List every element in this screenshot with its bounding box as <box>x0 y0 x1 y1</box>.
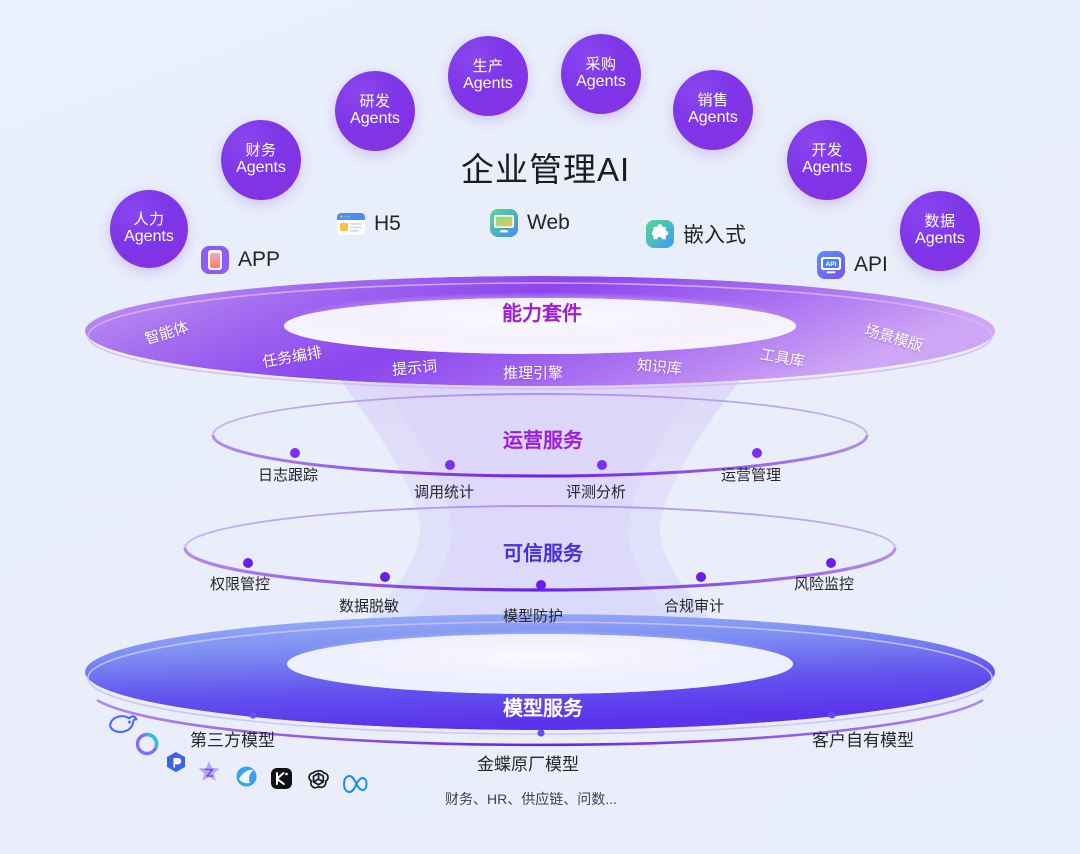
channel-APP[interactable]: APP <box>200 245 280 275</box>
agent-bubble-sub: Agents <box>350 110 400 128</box>
ring-dot-trust-0 <box>243 558 253 568</box>
agent-bubble-4[interactable]: 采购Agents <box>561 34 641 114</box>
layer-title-operations: 运营服务 <box>503 424 583 453</box>
svg-text:API: API <box>826 261 837 268</box>
agent-bubble-name: 销售 <box>697 93 728 110</box>
channel-label: Web <box>527 211 570 235</box>
layer-node-operations-3: 运营管理 <box>721 464 781 485</box>
channel-API[interactable]: APIAPI <box>816 250 888 280</box>
agent-bubble-sub: Agents <box>915 230 965 248</box>
agent-bubble-name: 生产 <box>472 59 503 76</box>
agent-bubble-sub: Agents <box>688 109 738 127</box>
agent-bubble-name: 采购 <box>585 57 616 74</box>
api-icon: API <box>816 250 846 280</box>
agent-bubble-name: 数据 <box>924 214 955 231</box>
agent-bubble-name: 财务 <box>245 143 276 160</box>
agent-bubble-6[interactable]: 开发Agents <box>787 120 867 200</box>
agent-bubble-name: 人力 <box>133 212 164 229</box>
embedded-icon <box>645 219 675 249</box>
agent-bubble-name: 开发 <box>811 143 842 160</box>
channel-label: API <box>854 253 888 277</box>
ring-dot-trust-4 <box>826 558 836 568</box>
agent-bubble-5[interactable]: 销售Agents <box>673 70 753 150</box>
ring-dot-operations-3 <box>752 448 762 458</box>
layer-node-operations-1: 调用统计 <box>414 481 474 502</box>
channel-label: 嵌入式 <box>683 219 746 249</box>
agent-bubble-1[interactable]: 财务Agents <box>221 120 301 200</box>
layer-title-trust: 可信服务 <box>503 537 583 566</box>
ring-dot-trust-2 <box>536 580 546 590</box>
channel-label: APP <box>238 248 280 272</box>
channel-嵌入式[interactable]: 嵌入式 <box>645 219 746 249</box>
layer-title-model: 模型服务 <box>503 692 583 721</box>
ring-dot-model-1 <box>537 729 544 736</box>
ring-dot-operations-1 <box>445 460 455 470</box>
agent-bubble-sub: Agents <box>463 75 513 93</box>
diagram-canvas: 人力Agents财务Agents研发Agents生产Agents采购Agents… <box>0 0 1080 854</box>
layer-node-trust-4: 风险监控 <box>794 573 854 594</box>
layer-node-trust-2: 模型防护 <box>503 605 563 626</box>
layer-node-trust-1: 数据脱敏 <box>339 595 399 616</box>
layer-node-operations-0: 日志跟踪 <box>258 464 318 485</box>
agent-bubble-3[interactable]: 生产Agents <box>448 36 528 116</box>
model-sub-caption: 财务、HR、供应链、问数... <box>445 789 617 809</box>
channel-Web[interactable]: Web <box>489 208 570 238</box>
agent-bubble-0[interactable]: 人力Agents <box>110 190 188 268</box>
h5-icon <box>336 209 366 239</box>
agent-bubble-7[interactable]: 数据Agents <box>900 191 980 271</box>
layer-node-model-0: 第三方模型 <box>190 726 275 751</box>
layer-title-capability: 能力套件 <box>502 297 582 326</box>
layer-node-trust-0: 权限管控 <box>210 573 270 594</box>
agent-bubble-2[interactable]: 研发Agents <box>335 71 415 151</box>
agent-bubble-sub: Agents <box>236 159 286 177</box>
layer-node-model-2: 客户自有模型 <box>812 726 914 751</box>
ring-dot-trust-1 <box>380 572 390 582</box>
page-title: 企业管理AI <box>461 143 630 191</box>
app-icon <box>200 245 230 275</box>
ring-dot-operations-0 <box>290 448 300 458</box>
agent-bubble-name: 研发 <box>359 94 390 111</box>
ring-dot-model-2 <box>828 711 835 718</box>
web-icon <box>489 208 519 238</box>
agent-bubble-sub: Agents <box>576 73 626 91</box>
layer-node-model-1: 金蝶原厂模型 <box>477 750 579 775</box>
ring-dot-operations-2 <box>597 460 607 470</box>
channel-label: H5 <box>374 212 401 236</box>
layer-node-capability-3: 推理引擎 <box>503 362 563 383</box>
layer-node-trust-3: 合规审计 <box>664 595 724 616</box>
layer-node-operations-2: 评测分析 <box>566 481 626 502</box>
agent-bubble-sub: Agents <box>802 159 852 177</box>
agent-bubble-sub: Agents <box>124 228 174 246</box>
ring-dot-trust-3 <box>696 572 706 582</box>
channel-H5[interactable]: H5 <box>336 209 401 239</box>
ring-dot-model-0 <box>249 711 256 718</box>
layer-node-capability-4: 知识库 <box>636 354 683 379</box>
layer-node-capability-2: 提示词 <box>391 355 438 380</box>
